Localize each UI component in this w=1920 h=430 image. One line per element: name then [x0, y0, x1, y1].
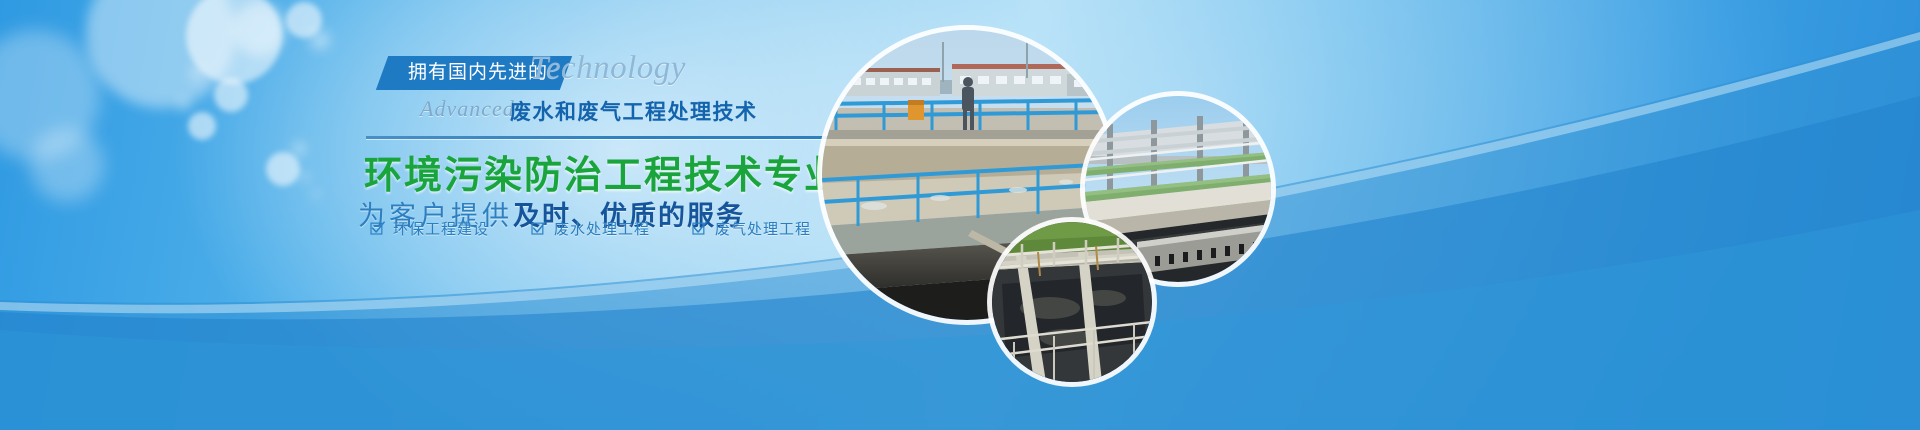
bokeh-circle	[190, 66, 204, 80]
check-box-icon	[370, 221, 385, 236]
bokeh-circle	[232, 2, 286, 56]
feature-item-1[interactable]: 废水处理工程	[531, 218, 650, 239]
feature-item-0[interactable]: 环保工程建设	[370, 218, 489, 239]
bokeh-circle	[86, 0, 236, 108]
subtitle-row: Advanced 废水和废气工程处理技术	[358, 94, 828, 128]
feature-label: 环保工程建设	[393, 218, 489, 239]
bokeh-circle	[292, 142, 306, 156]
bokeh-circle	[266, 152, 300, 186]
bokeh-circle	[178, 98, 190, 110]
check-box-icon	[692, 221, 707, 236]
photo-aeration-basin	[992, 222, 1152, 382]
technology-script-word: Technology	[530, 50, 686, 87]
feature-item-2[interactable]: 废气处理工程	[692, 218, 811, 239]
bokeh-circle	[312, 190, 320, 198]
eyebrow-badge-label: 拥有国内先进的	[408, 56, 548, 90]
bokeh-circle	[300, 172, 310, 182]
banner-subtitle: 废水和废气工程处理技术	[510, 96, 758, 126]
bokeh-circle	[310, 30, 330, 50]
bokeh-circle	[214, 78, 248, 112]
bokeh-circle	[30, 128, 104, 202]
bokeh-circle	[186, 0, 282, 84]
bokeh-circle	[286, 2, 322, 38]
feature-list: 环保工程建设 废水处理工程 废气处理工程	[370, 218, 811, 239]
advanced-script-word: Advanced	[420, 96, 515, 122]
feature-label: 废水处理工程	[554, 218, 650, 239]
bokeh-circle	[0, 30, 100, 160]
divider-rule	[366, 136, 828, 139]
feature-label: 废气处理工程	[715, 218, 811, 239]
check-box-icon	[531, 221, 546, 236]
eyebrow-row: 拥有国内先进的 Technology	[358, 52, 828, 92]
bokeh-circle	[188, 112, 216, 140]
promo-banner: 拥有国内先进的 Technology Advanced 废水和废气工程处理技术 …	[0, 0, 1920, 430]
